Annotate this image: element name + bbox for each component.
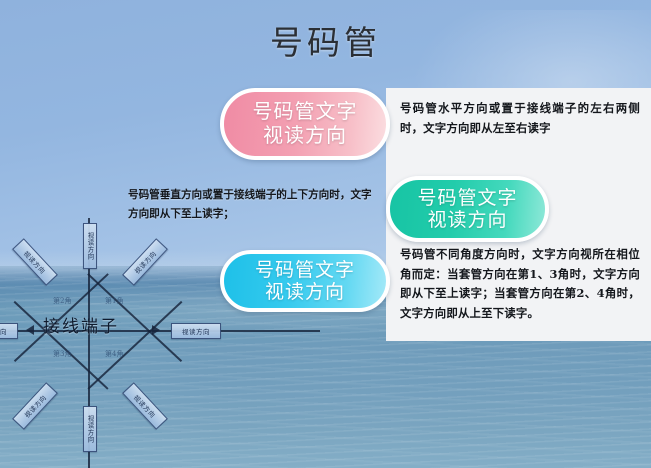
quadrant-label-4: 第4角: [105, 349, 123, 359]
sleeve-label-down: 视读方向: [83, 406, 97, 452]
sleeve-label-left: 视读方向: [0, 323, 18, 339]
sleeve-label-upper-right: 视读方向: [122, 238, 168, 285]
slide-canvas: 号码管 号码管水平方向或置于接线端子的左右两侧时，文字方向即从左至右读字 号码管…: [0, 0, 651, 468]
sleeve-label-lower-right: 视读方向: [122, 382, 168, 429]
pill-teal-line1: 号码管文字: [417, 187, 517, 209]
quadrant-label-2: 第2角: [53, 296, 71, 306]
sleeve-label-up: 视读方向: [83, 223, 97, 269]
pill-pink-line2: 视读方向: [263, 124, 347, 148]
terminal-direction-diagram: 接线端子 第2角 第1角 第3角 第4角 视读方向 视读方向 视读方向 视读方向…: [0, 218, 360, 468]
label-pill-angled: 号码管文字 视读方向: [386, 176, 549, 242]
explanation-paragraph-1: 号码管水平方向或置于接线端子的左右两侧时，文字方向即从左至右读字: [400, 99, 640, 138]
explanation-paragraph-2: 号码管不同角度方向时，文字方向视所在相位角而定：当套管方向在第1、3角时，文字方…: [400, 245, 640, 323]
pill-teal-line2: 视读方向: [427, 209, 507, 231]
arrow-head-left: [26, 325, 34, 335]
quadrant-label-3: 第3角: [53, 349, 71, 359]
sleeve-label-upper-left: 视读方向: [12, 238, 58, 285]
page-title: 号码管: [0, 16, 651, 64]
arrow-head-right: [152, 325, 160, 335]
quadrant-label-1: 第1角: [105, 296, 123, 306]
label-pill-horizontal: 号码管文字 视读方向: [220, 88, 390, 160]
pill-pink-line1: 号码管文字: [253, 100, 358, 124]
diagram-center-label: 接线端子: [43, 312, 119, 337]
sleeve-label-right: 视读方向: [171, 323, 221, 339]
sleeve-label-lower-left: 视读方向: [12, 382, 58, 429]
